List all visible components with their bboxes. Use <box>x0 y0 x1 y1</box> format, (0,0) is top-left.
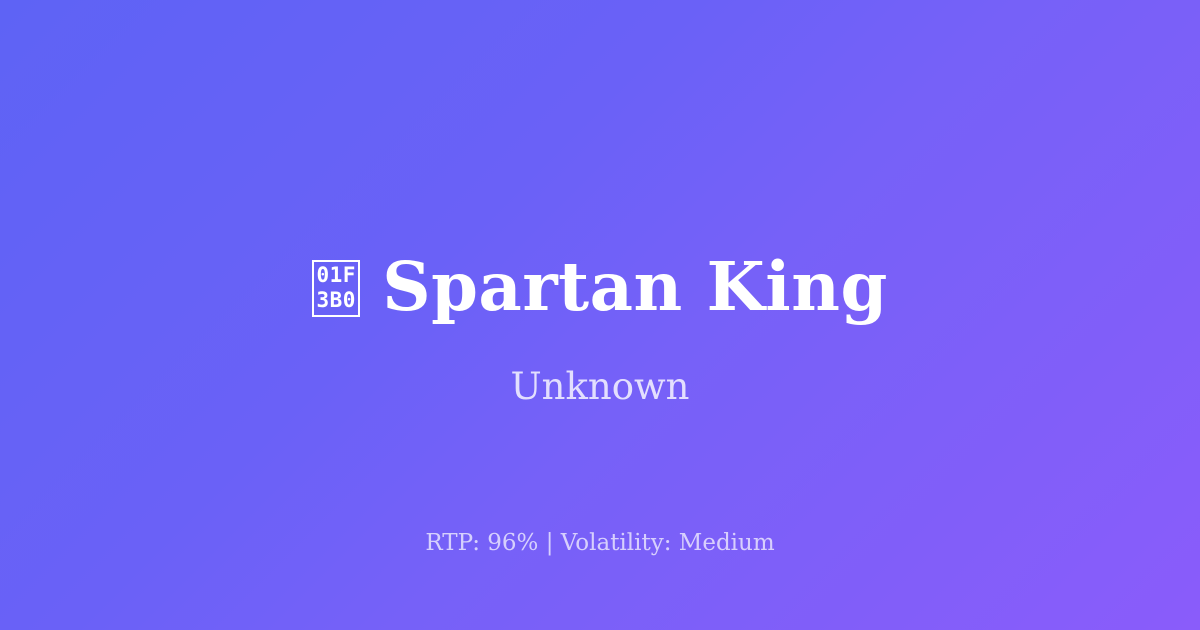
game-stats-line: RTP: 96% | Volatility: Medium <box>0 528 1200 558</box>
og-share-card: 01F 3B0 Spartan King Unknown RTP: 96% | … <box>0 0 1200 630</box>
slot-machine-emoji-icon: 01F 3B0 <box>312 260 360 317</box>
page-title: Spartan King <box>382 253 888 320</box>
emoji-codepoint-top: 01F <box>316 263 355 288</box>
title-line: 01F 3B0 Spartan King <box>312 253 888 320</box>
provider-subtitle: Unknown <box>0 364 1200 410</box>
emoji-codepoint-bottom: 3B0 <box>316 288 355 313</box>
